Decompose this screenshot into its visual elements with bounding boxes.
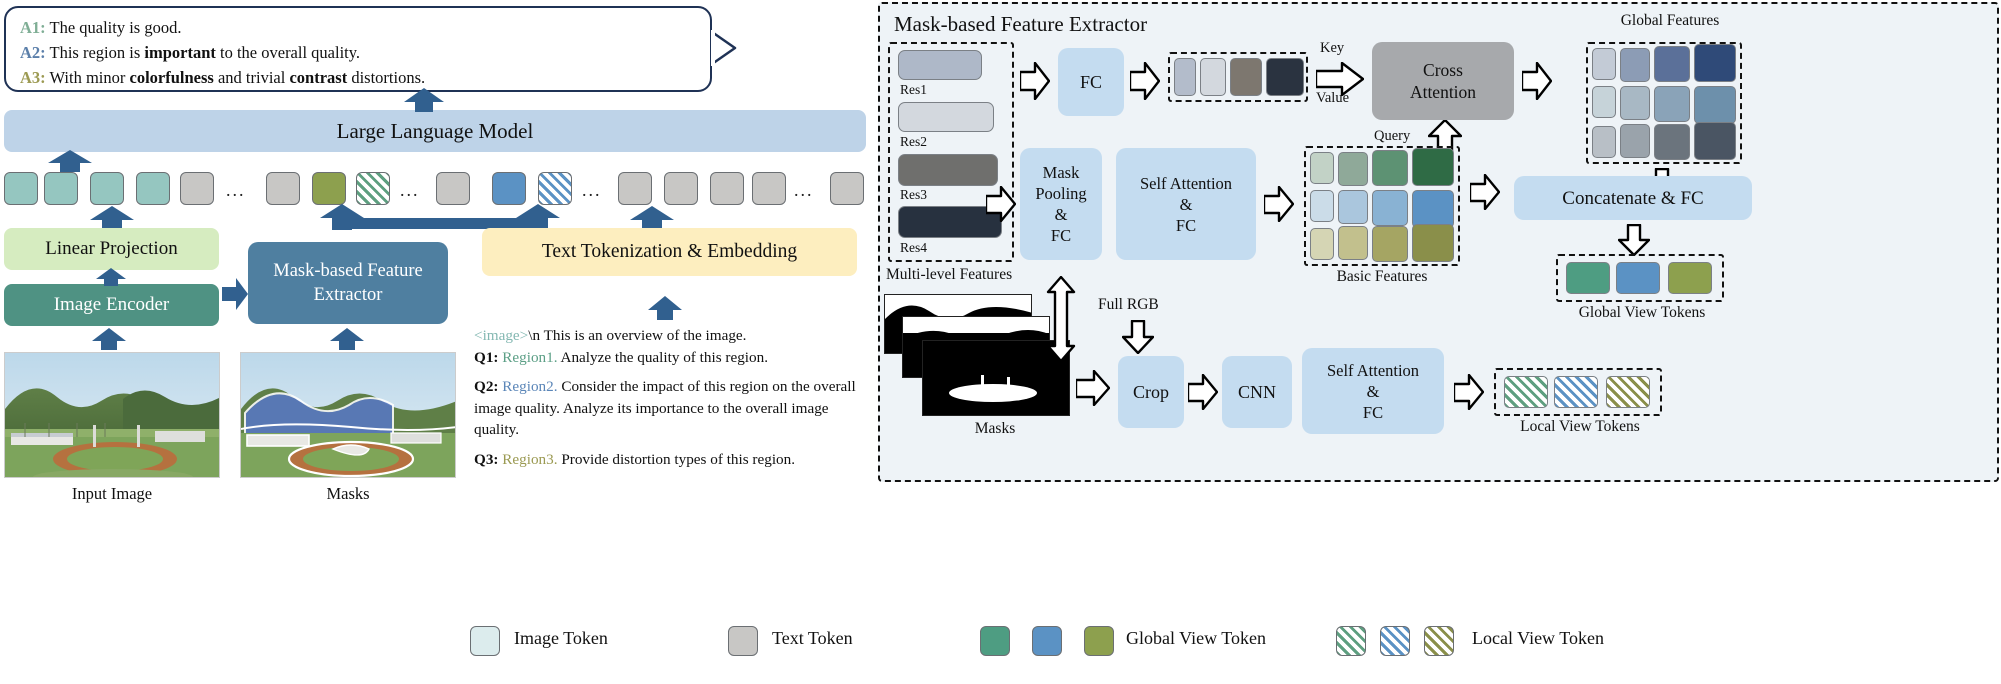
speech-bubble-tail bbox=[711, 30, 737, 66]
answer-tag-a2: A2: bbox=[20, 43, 46, 62]
q2-number: Q2: bbox=[474, 378, 498, 395]
multi-level-features-caption: Multi-level Features bbox=[886, 266, 1012, 284]
res2-label: Res2 bbox=[900, 134, 927, 150]
basic-feature-cell bbox=[1310, 152, 1334, 184]
answer-text-a2: This region is important to the overall … bbox=[46, 43, 360, 62]
self-attention-fc-block-2: Self Attention & FC bbox=[1302, 348, 1444, 434]
token-text-1 bbox=[180, 172, 214, 205]
token-sequence-strip: ... ... ... ... bbox=[0, 172, 876, 208]
global-view-token-olive bbox=[1668, 262, 1712, 294]
arrow-tokens-to-llm bbox=[48, 150, 92, 172]
arrow-crop-to-cnn bbox=[1188, 374, 1218, 410]
legend-label-image-token: Image Token bbox=[514, 628, 608, 649]
prompt-gap-2 bbox=[474, 441, 870, 449]
arrow-self-attention-to-basic-features bbox=[1264, 186, 1294, 222]
mask-pooling-line3: & bbox=[1035, 204, 1086, 225]
right-panel-title: Mask-based Feature Extractor bbox=[894, 12, 1147, 37]
mask-pooling-line4: FC bbox=[1035, 225, 1086, 246]
linear-projection-block: Linear Projection bbox=[4, 228, 219, 270]
token-text-6 bbox=[710, 172, 744, 205]
global-feature-cell bbox=[1654, 46, 1690, 82]
global-features-caption: Global Features bbox=[1580, 12, 1760, 30]
image-encoder-block: Image Encoder bbox=[4, 284, 219, 326]
fc-out-cell-1 bbox=[1174, 58, 1196, 96]
concatenate-fc-block: Concatenate & FC bbox=[1514, 176, 1752, 220]
res3-label: Res3 bbox=[900, 187, 927, 203]
global-view-token-green bbox=[1566, 262, 1610, 294]
self-attention-1-line3: FC bbox=[1140, 215, 1232, 236]
token-local-view-green bbox=[356, 172, 390, 205]
arrow-input-image-to-encoder bbox=[92, 328, 126, 350]
local-view-token-olive bbox=[1606, 376, 1650, 408]
mask-pooling-fc-block: Mask Pooling & FC bbox=[1020, 148, 1102, 260]
prompt-line-image: <image>\n This is an overview of the ima… bbox=[474, 325, 870, 347]
legend-swatch-global-blue bbox=[1032, 626, 1062, 656]
token-text-3 bbox=[436, 172, 470, 205]
global-feature-cell bbox=[1592, 126, 1616, 158]
res1-label: Res1 bbox=[900, 82, 927, 98]
answer-tag-a3: A3: bbox=[20, 68, 46, 87]
token-image-1 bbox=[4, 172, 38, 205]
global-feature-cell bbox=[1620, 124, 1650, 158]
self-attention-2-line1: Self Attention bbox=[1327, 360, 1419, 381]
input-image-thumbnail bbox=[4, 352, 220, 478]
global-view-tokens-caption: Global View Tokens bbox=[1552, 304, 1732, 322]
local-view-tokens-caption: Local View Tokens bbox=[1490, 418, 1670, 436]
token-text-8 bbox=[830, 172, 864, 205]
arrow-concatenate-to-global-view-tokens bbox=[1618, 224, 1650, 256]
arrow-projection-to-tokens bbox=[90, 206, 134, 230]
arrow-llm-to-answer bbox=[404, 88, 444, 112]
ellipsis-4: ... bbox=[794, 180, 814, 201]
mask-based-feature-extractor-panel: Mask-based Feature Extractor Res1 Res2 R… bbox=[878, 2, 1999, 482]
local-view-token-green bbox=[1504, 376, 1548, 408]
arrow-full-rgb-to-crop bbox=[1122, 320, 1154, 354]
global-feature-cell bbox=[1694, 122, 1736, 160]
ellipsis-2: ... bbox=[400, 180, 420, 201]
masks-thumbnail bbox=[240, 352, 456, 478]
answer-line-a3: A3: With minor colorfulness and trivial … bbox=[20, 65, 698, 90]
image-placeholder-tag: <image> bbox=[474, 327, 528, 344]
basic-feature-cell bbox=[1372, 190, 1408, 226]
legend-swatch-global-olive bbox=[1084, 626, 1114, 656]
global-feature-cell bbox=[1694, 44, 1736, 82]
q3-region: Region3. bbox=[502, 451, 557, 468]
basic-feature-cell bbox=[1338, 152, 1368, 186]
answer-text-a3: With minor colorfulness and trivial cont… bbox=[46, 68, 425, 87]
arrow-key-value-to-cross-attention bbox=[1316, 62, 1364, 96]
legend-swatch-global-green bbox=[980, 626, 1010, 656]
q3-text: Provide distortion types of this region. bbox=[558, 451, 796, 468]
prompt-line-q2: Q2: Region2. Consider the impact of this… bbox=[474, 376, 870, 441]
token-global-view-blue bbox=[492, 172, 526, 205]
large-language-model-block: Large Language Model bbox=[4, 110, 866, 152]
self-attention-2-line2: & bbox=[1327, 381, 1419, 402]
arrow-cross-attention-to-global-features bbox=[1522, 62, 1552, 100]
fc-block: FC bbox=[1058, 48, 1124, 116]
crop-block: Crop bbox=[1118, 356, 1184, 428]
self-attention-fc-block-1: Self Attention & FC bbox=[1116, 148, 1256, 260]
legend-swatch-local-olive bbox=[1424, 626, 1454, 656]
arrow-multilevel-to-mask-pooling bbox=[986, 186, 1016, 222]
arrow-self-attention-to-local-view-tokens bbox=[1454, 374, 1484, 410]
token-image-2 bbox=[44, 172, 78, 205]
global-feature-cell bbox=[1654, 124, 1690, 160]
mask-based-feature-extractor-block: Mask-based Feature Extractor bbox=[248, 242, 448, 324]
ellipsis-1: ... bbox=[226, 180, 246, 201]
token-text-7 bbox=[752, 172, 786, 205]
mask-pooling-line1: Mask bbox=[1035, 162, 1086, 183]
q3-number: Q3: bbox=[474, 451, 498, 468]
token-local-view-blue bbox=[538, 172, 572, 205]
answer-text-a1: The quality is good. bbox=[46, 18, 182, 37]
token-text-2 bbox=[266, 172, 300, 205]
legend: Image Token Text Token Global View Token… bbox=[470, 612, 2001, 672]
arrow-prompt-to-text-tokenization bbox=[648, 296, 682, 320]
self-attention-1-line1: Self Attention bbox=[1140, 173, 1232, 194]
masks-caption-right: Masks bbox=[930, 420, 1060, 438]
legend-swatch-text-token bbox=[728, 626, 758, 656]
global-feature-cell bbox=[1592, 86, 1616, 118]
global-feature-cell bbox=[1694, 86, 1736, 124]
legend-label-text-token: Text Token bbox=[772, 628, 853, 649]
basic-feature-cell bbox=[1412, 224, 1454, 262]
fc-out-cell-2 bbox=[1200, 58, 1226, 96]
global-feature-cell bbox=[1654, 86, 1690, 122]
answer-tag-a1: A1: bbox=[20, 18, 46, 37]
token-text-5 bbox=[664, 172, 698, 205]
prompt-text-block: <image>\n This is an overview of the ima… bbox=[474, 325, 870, 470]
q1-text: Analyze the quality of this region. bbox=[558, 349, 768, 366]
basic-feature-cell bbox=[1310, 228, 1334, 260]
prompt-line-q1: Q1: Region1. Analyze the quality of this… bbox=[474, 347, 870, 369]
basic-feature-cell bbox=[1372, 226, 1408, 262]
res4-label: Res4 bbox=[900, 240, 927, 256]
linear-projection-label: Linear Projection bbox=[45, 238, 177, 260]
token-image-4 bbox=[136, 172, 170, 205]
cross-attention-line1: Cross bbox=[1410, 59, 1476, 81]
token-global-view-olive bbox=[312, 172, 346, 205]
arrow-masks-to-crop bbox=[1076, 370, 1110, 406]
local-view-token-blue bbox=[1554, 376, 1598, 408]
res3-block bbox=[898, 154, 998, 186]
text-tokenization-block: Text Tokenization & Embedding bbox=[482, 228, 857, 276]
prompt-line-q3: Q3: Region3. Provide distortion types of… bbox=[474, 449, 870, 471]
q1-number: Q1: bbox=[474, 349, 498, 366]
answer-line-a1: A1: The quality is good. bbox=[20, 15, 698, 40]
arrow-masks-multilevel-bidirectional bbox=[1046, 276, 1076, 362]
arrow-masks-to-mbfe bbox=[330, 328, 364, 350]
basic-feature-cell bbox=[1412, 148, 1454, 186]
arrow-encoder-to-mbfe bbox=[222, 278, 248, 310]
basic-feature-cell bbox=[1310, 190, 1334, 222]
concatenate-fc-label: Concatenate & FC bbox=[1562, 188, 1703, 209]
global-feature-cell bbox=[1592, 48, 1616, 80]
prompt-overview-text: \n This is an overview of the image. bbox=[528, 327, 746, 344]
cross-attention-block: Cross Attention bbox=[1372, 42, 1514, 120]
arrow-multilevel-to-fc bbox=[1020, 62, 1050, 100]
q2-region: Region2. bbox=[502, 378, 557, 395]
legend-swatch-local-green bbox=[1336, 626, 1366, 656]
global-view-token-blue bbox=[1616, 262, 1660, 294]
legend-label-local-view-token: Local View Token bbox=[1472, 628, 1604, 649]
legend-label-global-view-token: Global View Token bbox=[1126, 628, 1266, 649]
self-attention-2-line3: FC bbox=[1327, 402, 1419, 423]
ellipsis-3: ... bbox=[582, 180, 602, 201]
fc-label: FC bbox=[1080, 72, 1102, 93]
crop-label: Crop bbox=[1133, 382, 1169, 403]
basic-feature-cell bbox=[1338, 190, 1368, 224]
key-label: Key bbox=[1320, 40, 1344, 57]
res1-block bbox=[898, 50, 982, 80]
answer-bubble: A1: The quality is good. A2: This region… bbox=[4, 6, 712, 92]
fc-out-cell-3 bbox=[1230, 58, 1262, 96]
legend-swatch-image-token bbox=[470, 626, 500, 656]
pipeline-overview-panel: A1: The quality is good. A2: This region… bbox=[0, 0, 876, 684]
global-feature-cell bbox=[1620, 48, 1650, 82]
text-tokenization-label: Text Tokenization & Embedding bbox=[542, 241, 797, 263]
mask-pooling-line2: Pooling bbox=[1035, 183, 1086, 204]
legend-swatch-local-blue bbox=[1380, 626, 1410, 656]
fc-out-cell-4 bbox=[1266, 58, 1304, 96]
arrow-basic-features-to-concatenate bbox=[1470, 174, 1500, 210]
global-feature-cell bbox=[1620, 86, 1650, 120]
arrow-encoder-to-projection bbox=[96, 268, 126, 286]
mbfe-label: Mask-based Feature Extractor bbox=[256, 259, 440, 307]
cross-attention-line2: Attention bbox=[1410, 81, 1476, 103]
self-attention-1-line2: & bbox=[1140, 194, 1232, 215]
cnn-block: CNN bbox=[1222, 356, 1292, 428]
llm-label: Large Language Model bbox=[337, 119, 534, 144]
basic-feature-cell bbox=[1412, 190, 1454, 228]
arrow-text-tokenization-to-tokens bbox=[630, 206, 674, 230]
image-encoder-label: Image Encoder bbox=[54, 294, 170, 316]
query-label: Query bbox=[1374, 128, 1410, 145]
input-image-caption: Input Image bbox=[4, 484, 220, 504]
basic-feature-cell bbox=[1372, 150, 1408, 186]
res2-block bbox=[898, 102, 994, 132]
q1-region: Region1. bbox=[502, 349, 557, 366]
arrow-fc-to-features bbox=[1130, 62, 1160, 100]
answer-line-a2: A2: This region is important to the over… bbox=[20, 40, 698, 65]
token-image-3 bbox=[90, 172, 124, 205]
cnn-label: CNN bbox=[1238, 382, 1276, 403]
prompt-gap-1 bbox=[474, 368, 870, 376]
full-rgb-label: Full RGB bbox=[1098, 296, 1159, 314]
basic-feature-cell bbox=[1338, 226, 1368, 260]
token-text-4 bbox=[618, 172, 652, 205]
masks-caption-left: Masks bbox=[240, 484, 456, 504]
basic-features-caption: Basic Features bbox=[1300, 268, 1464, 286]
